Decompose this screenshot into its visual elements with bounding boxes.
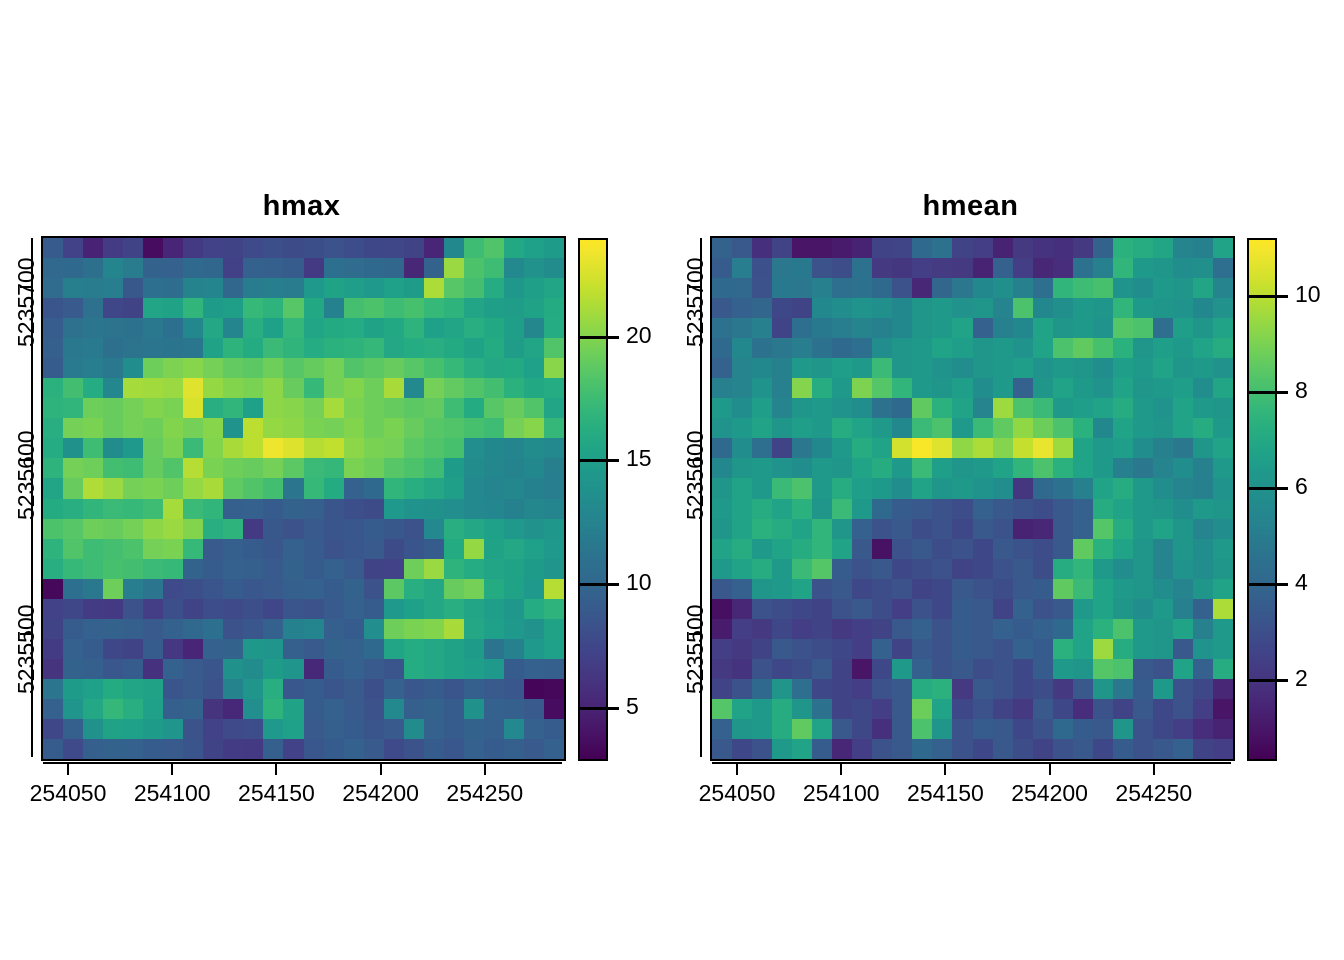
heatmap-cell [63,458,83,478]
heatmap-cell [752,458,772,478]
heatmap-cell [304,619,324,639]
heatmap-cell [973,739,993,759]
heatmap-cell [103,519,123,539]
heatmap-cell [263,418,283,438]
heatmap-cell [1053,438,1073,458]
heatmap-cell [424,438,444,458]
heatmap-cell [364,478,384,498]
heatmap-cell [83,639,103,659]
heatmap-cell [1053,358,1073,378]
colorbar-tick-mark [578,707,619,710]
heatmap-cell [83,338,103,358]
heatmap-cell [892,739,912,759]
heatmap-cell [63,318,83,338]
heatmap-cell [283,318,303,338]
heatmap-cell [424,258,444,278]
heatmap-cell [1173,539,1193,559]
heatmap-cell [1153,298,1173,318]
heatmap-cell [304,458,324,478]
heatmap-cell [892,458,912,478]
heatmap-cell [1193,358,1213,378]
heatmap-cell [143,579,163,599]
heatmap-cell [283,739,303,759]
x-tick-mark [67,764,69,775]
heatmap-cell [1013,358,1033,378]
heatmap-cell [812,499,832,519]
heatmap-cell [283,338,303,358]
heatmap-cell [832,559,852,579]
heatmap-cell [344,438,364,458]
heatmap-cell [1193,338,1213,358]
heatmap-cell [223,258,243,278]
heatmap-cell [1033,398,1053,418]
heatmap-cell [63,298,83,318]
heatmap-cell [43,258,63,278]
heatmap-cell [63,398,83,418]
heatmap-cell [1053,639,1073,659]
heatmap-cell [444,719,464,739]
heatmap-cell [1013,699,1033,719]
heatmap-cell [1153,398,1173,418]
heatmap-cell [43,599,63,619]
heatmap-cell [912,478,932,498]
heatmap-cell [163,639,183,659]
heatmap-cell [892,639,912,659]
heatmap-cell [872,499,892,519]
heatmap-cell [1073,258,1093,278]
heatmap-cell [163,238,183,258]
heatmap-cell [43,398,63,418]
heatmap-cell [1113,699,1133,719]
heatmap-cell [424,559,444,579]
x-tick-mark [1049,764,1051,775]
heatmap-cell [263,559,283,579]
heatmap-cell [792,418,812,438]
heatmap-cell [83,539,103,559]
heatmap-cell [324,338,344,358]
heatmap-cell [464,278,484,298]
colorbar-tick-mark [1247,295,1288,298]
heatmap-cell [752,258,772,278]
heatmap-cell [484,539,504,559]
heatmap-cell [1033,679,1053,699]
heatmap-cell [752,739,772,759]
heatmap-cell [993,398,1013,418]
heatmap-cell [1213,679,1233,699]
heatmap-cell [43,639,63,659]
heatmap-cell [484,679,504,699]
heatmap-cell [263,458,283,478]
heatmap-cell [504,579,524,599]
heatmap-cell [324,238,344,258]
heatmap-cell [812,338,832,358]
heatmap-cell [263,699,283,719]
heatmap-cell [444,278,464,298]
heatmap-cell [1093,278,1113,298]
heatmap-cell [283,438,303,458]
heatmap-cell [732,398,752,418]
plot-title-hmax: hmax [41,190,562,223]
heatmap-cell [1113,639,1133,659]
heatmap-cell [504,478,524,498]
heatmap-cell [484,579,504,599]
heatmap-cell [732,378,752,398]
heatmap-cell [1033,619,1053,639]
heatmap-cell [952,679,972,699]
heatmap-cell [952,659,972,679]
heatmap-cell [43,619,63,639]
heatmap-cell [163,699,183,719]
heatmap-cell [63,599,83,619]
heatmap-cell [484,719,504,739]
heatmap-cell [1113,579,1133,599]
heatmap-cell [993,579,1013,599]
heatmap-cell [324,719,344,739]
heatmap-cell [43,298,63,318]
heatmap-cell [123,679,143,699]
heatmap-cell [504,719,524,739]
heatmap-cell [1193,478,1213,498]
heatmap-cell [1193,398,1213,418]
heatmap-cell [1053,539,1073,559]
heatmap-cell [344,699,364,719]
heatmap-cell [1053,579,1073,599]
heatmap-cell [143,699,163,719]
heatmap-cell [852,719,872,739]
heatmap-cell [1013,398,1033,418]
heatmap-cell [263,398,283,418]
heatmap-cell [792,358,812,378]
heatmap-cell [1213,478,1233,498]
heatmap-cell [712,358,732,378]
heatmap-cell [263,679,283,699]
heatmap-cell [1113,619,1133,639]
heatmap-cell [973,719,993,739]
heatmap-cell [1053,679,1073,699]
heatmap-cell [1073,358,1093,378]
heatmap-cell [524,358,544,378]
heatmap-cell [304,659,324,679]
heatmap-cell [203,639,223,659]
heatmap-cell [1113,358,1133,378]
heatmap-cell [1093,539,1113,559]
heatmap-cell [143,539,163,559]
heatmap-cell [1133,418,1153,438]
heatmap-cell [384,358,404,378]
heatmap-cell [1033,278,1053,298]
heatmap-cell [544,539,564,559]
heatmap-cell [1033,458,1053,478]
heatmap-cell [872,599,892,619]
heatmap-cell [1013,258,1033,278]
colorbar-tick-label: 10 [626,569,652,596]
heatmap-cell [444,739,464,759]
heatmap-cell [872,699,892,719]
heatmap-cell [243,619,263,639]
heatmap-cell [544,458,564,478]
heatmap-cell [123,398,143,418]
heatmap-cell [892,719,912,739]
heatmap-cell [123,579,143,599]
heatmap-cell [223,599,243,619]
colorbar-tick-mark [1247,679,1288,682]
heatmap-cell [952,559,972,579]
heatmap-cell [143,398,163,418]
heatmap-cell [43,478,63,498]
heatmap-cell [1153,458,1173,478]
heatmap-cell [404,258,424,278]
heatmap-cell [364,739,384,759]
heatmap-cell [384,338,404,358]
heatmap-cell [973,418,993,438]
heatmap-cell [203,398,223,418]
heatmap-cell [932,398,952,418]
heatmap-cell [772,438,792,458]
heatmap-cell [1113,338,1133,358]
heatmap-cell [63,659,83,679]
heatmap-cell [544,579,564,599]
heatmap-cell [203,258,223,278]
heatmap-cell [324,559,344,579]
heatmap-cell [143,478,163,498]
heatmap-cell [524,318,544,338]
heatmap-cell [243,258,263,278]
heatmap-cell [464,378,484,398]
heatmap-cell [203,338,223,358]
heatmap-cell [712,258,732,278]
heatmap-cell [1053,398,1073,418]
heatmap-cell [504,659,524,679]
heatmap-cell [464,639,484,659]
heatmap-cell [103,338,123,358]
heatmap-cell [163,539,183,559]
heatmap-cell [872,418,892,438]
heatmap-cell [1053,699,1073,719]
heatmap-cell [772,398,792,418]
heatmap-cell [203,278,223,298]
heatmap-cell [464,659,484,679]
heatmap-cell [832,719,852,739]
heatmap-cell [932,258,952,278]
heatmap-cell [872,238,892,258]
heatmap-cell [504,519,524,539]
heatmap-cell [852,338,872,358]
heatmap-cell [304,478,324,498]
heatmap-cell [832,539,852,559]
heatmap-cell [712,378,732,398]
heatmap-cell [812,278,832,298]
heatmap-cell [993,599,1013,619]
heatmap-cell [832,438,852,458]
heatmap-cell [304,258,324,278]
heatmap-cell [772,719,792,739]
heatmap-cell [404,398,424,418]
heatmap-cell [464,418,484,438]
heatmap-cell [103,418,123,438]
heatmap-cell [123,478,143,498]
heatmap-cell [1153,619,1173,639]
heatmap-cell [1013,579,1033,599]
heatmap-cell [103,458,123,478]
heatmap-cell [183,258,203,278]
heatmap-cell [832,258,852,278]
heatmap-cell [143,418,163,438]
heatmap-cell [772,679,792,699]
heatmap-cell [872,278,892,298]
heatmap-cell [952,438,972,458]
heatmap-cell [1073,338,1093,358]
heatmap-cell [364,418,384,438]
heatmap-cell [424,378,444,398]
heatmap-cell [1053,739,1073,759]
heatmap-cell [103,539,123,559]
heatmap-cell [1113,318,1133,338]
heatmap-cell [83,679,103,699]
heatmap-cell [1173,478,1193,498]
heatmap-cell [1013,559,1033,579]
heatmap-cell [524,298,544,318]
heatmap-cell [1093,358,1113,378]
heatmap-cell [732,278,752,298]
heatmap-cell [123,258,143,278]
heatmap-cell [504,338,524,358]
heatmap-cell [243,599,263,619]
heatmap-cell [504,539,524,559]
heatmap-cell [83,378,103,398]
heatmap-cell [832,278,852,298]
heatmap-cell [832,398,852,418]
heatmap-cell [872,458,892,478]
heatmap-cell [852,418,872,438]
heatmap-cell [524,398,544,418]
heatmap-cell [1073,378,1093,398]
heatmap-cell [143,599,163,619]
heatmap-hmax[interactable] [41,236,566,761]
heatmap-cell [444,499,464,519]
heatmap-cell [752,378,772,398]
heatmap-cell [143,739,163,759]
heatmap-cell [504,258,524,278]
heatmap-cell [872,378,892,398]
heatmap-cell [1013,539,1033,559]
heatmap-cell [1153,599,1173,619]
heatmap-cell [892,318,912,338]
heatmap-cell [1213,719,1233,739]
heatmap-cell [83,258,103,278]
heatmap-cell [384,619,404,639]
heatmap-cell [852,478,872,498]
heatmap-cell [424,458,444,478]
heatmap-cell [832,619,852,639]
heatmap-cell [63,619,83,639]
heatmap-cell [1013,659,1033,679]
heatmap-cell [143,719,163,739]
heatmap-cell [364,358,384,378]
heatmap-cell [143,238,163,258]
heatmap-cell [712,559,732,579]
heatmap-cell [43,539,63,559]
heatmap-cell [772,418,792,438]
heatmap-cell [1113,458,1133,478]
heatmap-cell [752,539,772,559]
heatmap-cell [1033,519,1053,539]
heatmap-cell [932,418,952,438]
heatmap-cell [183,238,203,258]
heatmap-cell [304,418,324,438]
heatmap-cell [1073,679,1093,699]
heatmap-cell [952,378,972,398]
heatmap-cell [63,338,83,358]
heatmap-cell [993,278,1013,298]
heatmap-cell [544,719,564,739]
heatmap-cell [812,398,832,418]
heatmap-cell [123,519,143,539]
heatmap-cell [444,519,464,539]
heatmap-cell [304,539,324,559]
heatmap-cell [324,619,344,639]
heatmap-cell [43,579,63,599]
heatmap-cell [364,699,384,719]
colorbar-hmax[interactable] [578,238,608,761]
heatmap-cell [63,238,83,258]
heatmap-cell [424,539,444,559]
heatmap-cell [712,238,732,258]
heatmap-cell [993,619,1013,639]
heatmap-cell [283,499,303,519]
heatmap-cell [812,679,832,699]
colorbar-hmean[interactable] [1247,238,1277,761]
heatmap-cell [712,418,732,438]
heatmap-cell [1113,559,1133,579]
heatmap-cell [712,639,732,659]
heatmap-cell [143,358,163,378]
heatmap-cell [424,719,444,739]
heatmap-cell [163,719,183,739]
heatmap-cell [872,739,892,759]
heatmap-cell [1093,519,1113,539]
heatmap-cell [1153,338,1173,358]
heatmap-cell [484,699,504,719]
heatmap-cell [912,458,932,478]
heatmap-cell [384,298,404,318]
heatmap-cell [424,699,444,719]
heatmap-cell [1093,739,1113,759]
heatmap-cell [283,358,303,378]
heatmap-cell [1173,579,1193,599]
heatmap-cell [524,278,544,298]
heatmap-cell [203,499,223,519]
heatmap-cell [243,739,263,759]
heatmap-cell [812,699,832,719]
heatmap-cell [344,639,364,659]
heatmap-hmean[interactable] [710,236,1235,761]
heatmap-cell [1093,699,1113,719]
heatmap-cell [484,318,504,338]
heatmap-cell [912,438,932,458]
heatmap-cell [103,358,123,378]
heatmap-cell [1213,539,1233,559]
heatmap-cell [243,238,263,258]
heatmap-cell [324,639,344,659]
heatmap-cell [952,478,972,498]
heatmap-cell [792,719,812,739]
heatmap-cell [1033,499,1053,519]
heatmap-cell [464,719,484,739]
heatmap-cell [384,579,404,599]
y-tick-label: 5235600 [13,431,40,521]
heatmap-cell [163,378,183,398]
heatmap-cell [424,238,444,258]
